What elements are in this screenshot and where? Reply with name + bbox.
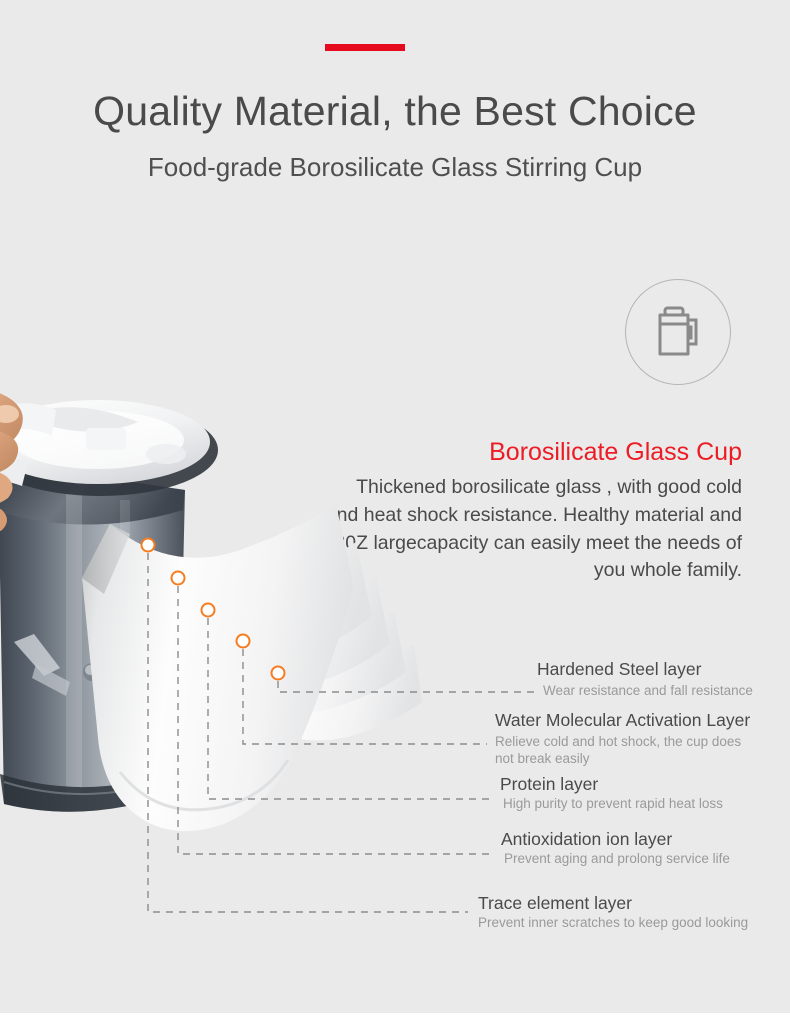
callout-desc: High purity to prevent rapid heat loss — [503, 796, 723, 813]
callout-title: Water Molecular Activation Layer — [495, 710, 750, 731]
callout-hardened-steel-layer: Hardened Steel layer — [537, 659, 701, 680]
product-infographic: Quality Material, the Best Choice Food-g… — [0, 0, 790, 1033]
marker-trace-element-layer[interactable] — [141, 538, 156, 553]
callout-desc: Relieve cold and hot shock, the cup does… — [495, 734, 757, 767]
callout-title: Hardened Steel layer — [537, 659, 701, 680]
callout-trace-element-layer: Trace element layer — [478, 893, 632, 914]
callout-antioxidation-ion-layer: Antioxidation ion layer — [501, 829, 672, 850]
callout-protein-layer-desc: High purity to prevent rapid heat loss — [503, 794, 723, 813]
marker-hardened-steel-layer[interactable] — [271, 666, 286, 681]
page-title: Quality Material, the Best Choice — [0, 88, 790, 135]
callout-title: Trace element layer — [478, 893, 632, 914]
marker-protein-layer[interactable] — [201, 603, 216, 618]
callout-trace-element-layer-desc: Prevent inner scratches to keep good loo… — [478, 913, 748, 932]
pitcher-badge — [625, 279, 731, 385]
callout-water-molecular-activation-layer: Water Molecular Activation Layer — [495, 710, 750, 731]
marker-antioxidation-ion-layer[interactable] — [171, 571, 186, 586]
callout-protein-layer: Protein layer — [500, 774, 598, 795]
callout-hardened-steel-layer-desc: Wear resistance and fall resistance — [543, 681, 753, 700]
product-image — [0, 372, 430, 892]
callout-desc: Prevent aging and prolong service life — [504, 851, 730, 868]
accent-bar — [325, 44, 405, 51]
callout-title: Protein layer — [500, 774, 598, 795]
callout-water-molecular-activation-layer-desc: Relieve cold and hot shock, the cup does… — [495, 732, 757, 767]
marker-water-molecular-activation-layer[interactable] — [236, 634, 251, 649]
callout-title: Antioxidation ion layer — [501, 829, 672, 850]
callout-antioxidation-ion-layer-desc: Prevent aging and prolong service life — [504, 849, 730, 868]
callout-desc: Wear resistance and fall resistance — [543, 683, 753, 700]
page-subtitle: Food-grade Borosilicate Glass Stirring C… — [0, 152, 790, 183]
callout-desc: Prevent inner scratches to keep good loo… — [478, 915, 748, 932]
